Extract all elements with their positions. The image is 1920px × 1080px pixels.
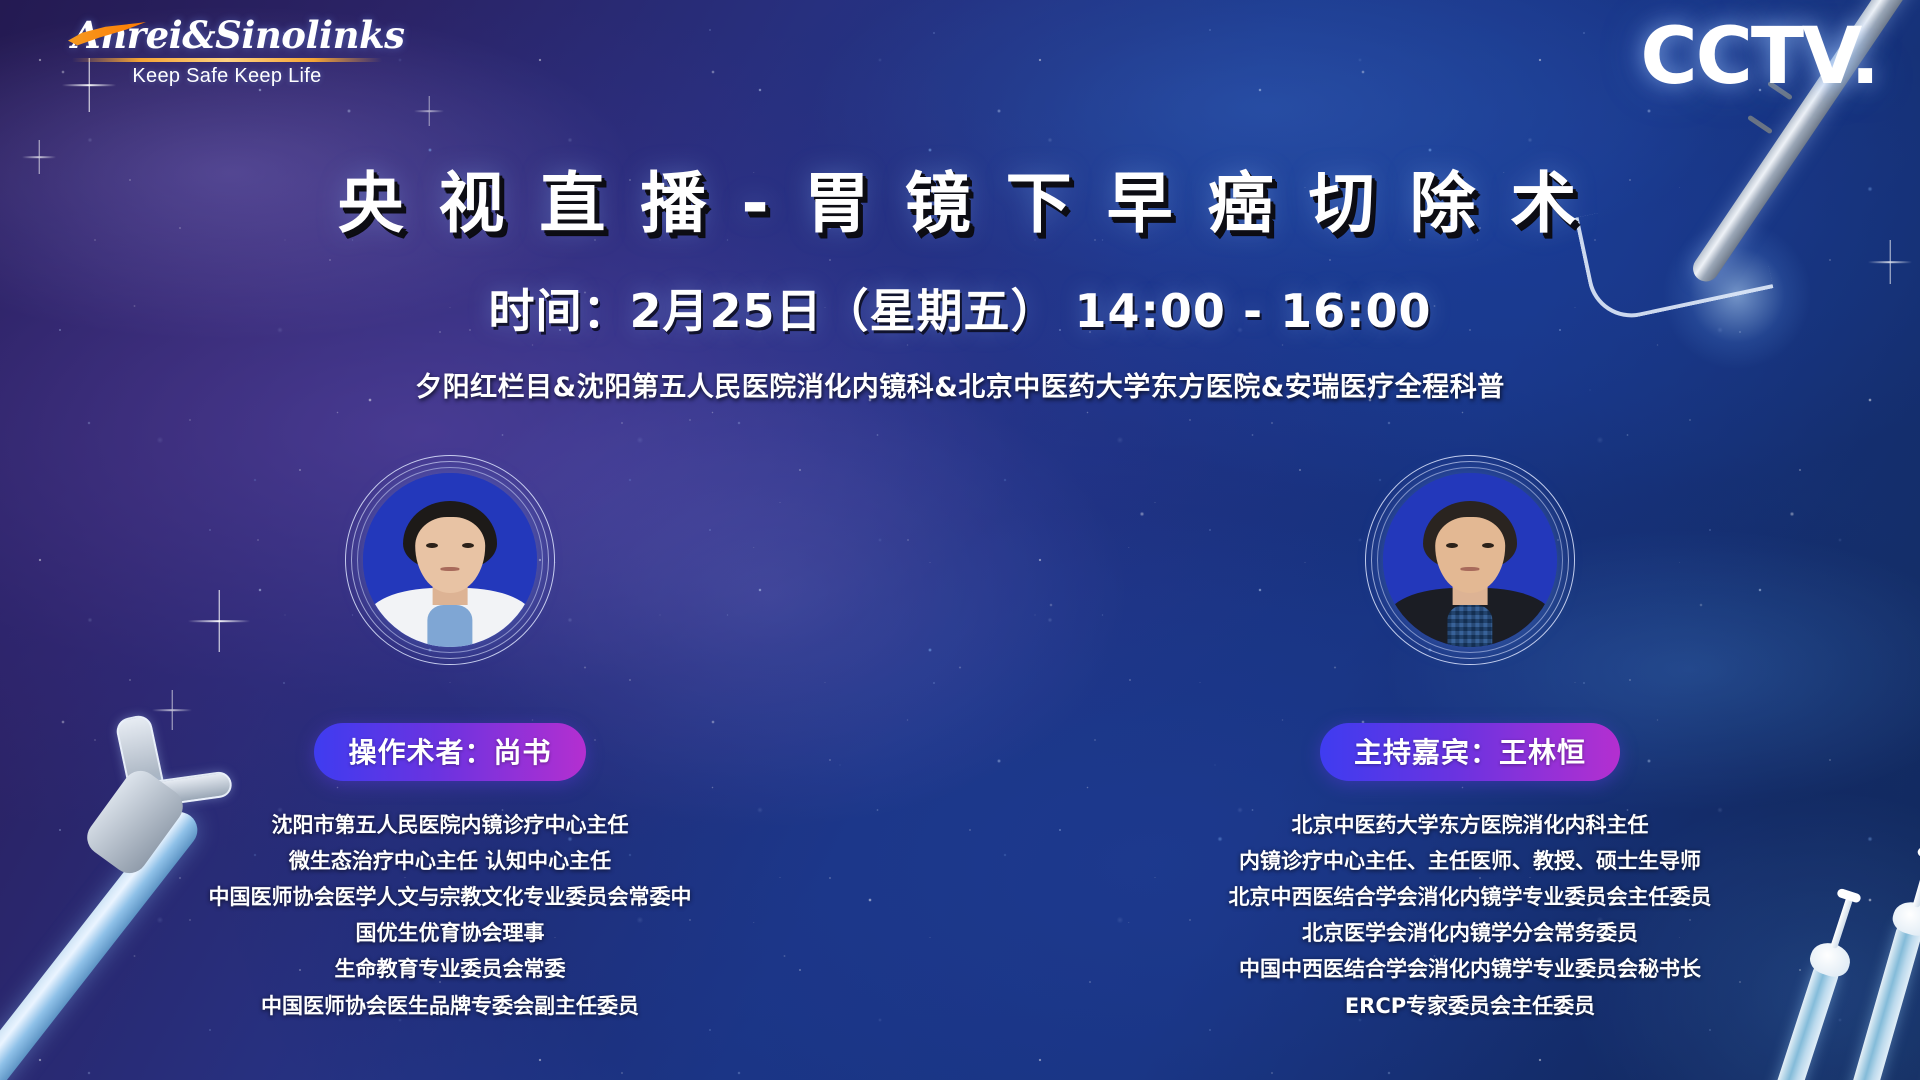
credential-line: 内镜诊疗中心主任、主任医师、教授、硕士生导师 [1190,843,1750,879]
cctv-logo: CCTV. [1640,12,1878,102]
credential-line: 北京中西医结合学会消化内镜学专业委员会主任委员 [1190,879,1750,915]
credential-line: 北京中医药大学东方医院消化内科主任 [1190,807,1750,843]
event-time-text: 时间：2月25日（星期五） 14:00 - 16:00 [0,275,1920,341]
credentials-host: 北京中医药大学东方医院消化内科主任 内镜诊疗中心主任、主任医师、教授、硕士生导师… [1190,807,1750,1024]
avatar [345,455,555,665]
speaker-card-operator: 操作术者：尚书 沈阳市第五人民医院内镜诊疗中心主任 微生态治疗中心主任 认知中心… [170,455,730,1024]
livestream-poster: Anrei&Sinolinks Keep Safe Keep Life CCTV… [0,0,1920,1080]
credential-line: 中国医师协会医学人文与宗教文化专业委员会常委中 [170,879,730,915]
event-subtitle: 夕阳红栏目&沈阳第五人民医院消化内镜科&北京中医药大学东方医院&安瑞医疗全程科普 [0,365,1920,404]
avatar [1365,455,1575,665]
anrei-sinolinks-logo: Anrei&Sinolinks Keep Safe Keep Life [72,16,382,88]
avatar-photo-operator [363,473,537,647]
brand-divider [72,58,382,62]
brand-tagline: Keep Safe Keep Life [72,65,382,88]
credential-line: 生命教育专业委员会常委 [170,951,730,987]
credential-line: ERCP专家委员会主任委员 [1190,988,1750,1024]
role-badge-operator: 操作术者：尚书 [314,723,585,781]
page-title: 央 视 直 播 - 胃 镜 下 早 癌 切 除 术 [0,150,1920,246]
credential-line: 沈阳市第五人民医院内镜诊疗中心主任 [170,807,730,843]
speaker-card-host: 主持嘉宾：王林恒 北京中医药大学东方医院消化内科主任 内镜诊疗中心主任、主任医师… [1190,455,1750,1024]
credential-line: 中国医师协会医生品牌专委会副主任委员 [170,988,730,1024]
credential-line: 北京医学会消化内镜学分会常务委员 [1190,915,1750,951]
credential-line: 微生态治疗中心主任 认知中心主任 [170,843,730,879]
role-badge-host: 主持嘉宾：王林恒 [1320,723,1620,781]
credentials-operator: 沈阳市第五人民医院内镜诊疗中心主任 微生态治疗中心主任 认知中心主任 中国医师协… [170,807,730,1024]
credential-line: 国优生优育协会理事 [170,915,730,951]
credential-line: 中国中西医结合学会消化内镜学专业委员会秘书长 [1190,951,1750,987]
avatar-photo-host [1383,473,1557,647]
brand-name: Anrei&Sinolinks [72,16,382,55]
speakers-section: 操作术者：尚书 沈阳市第五人民医院内镜诊疗中心主任 微生态治疗中心主任 认知中心… [0,455,1920,1024]
